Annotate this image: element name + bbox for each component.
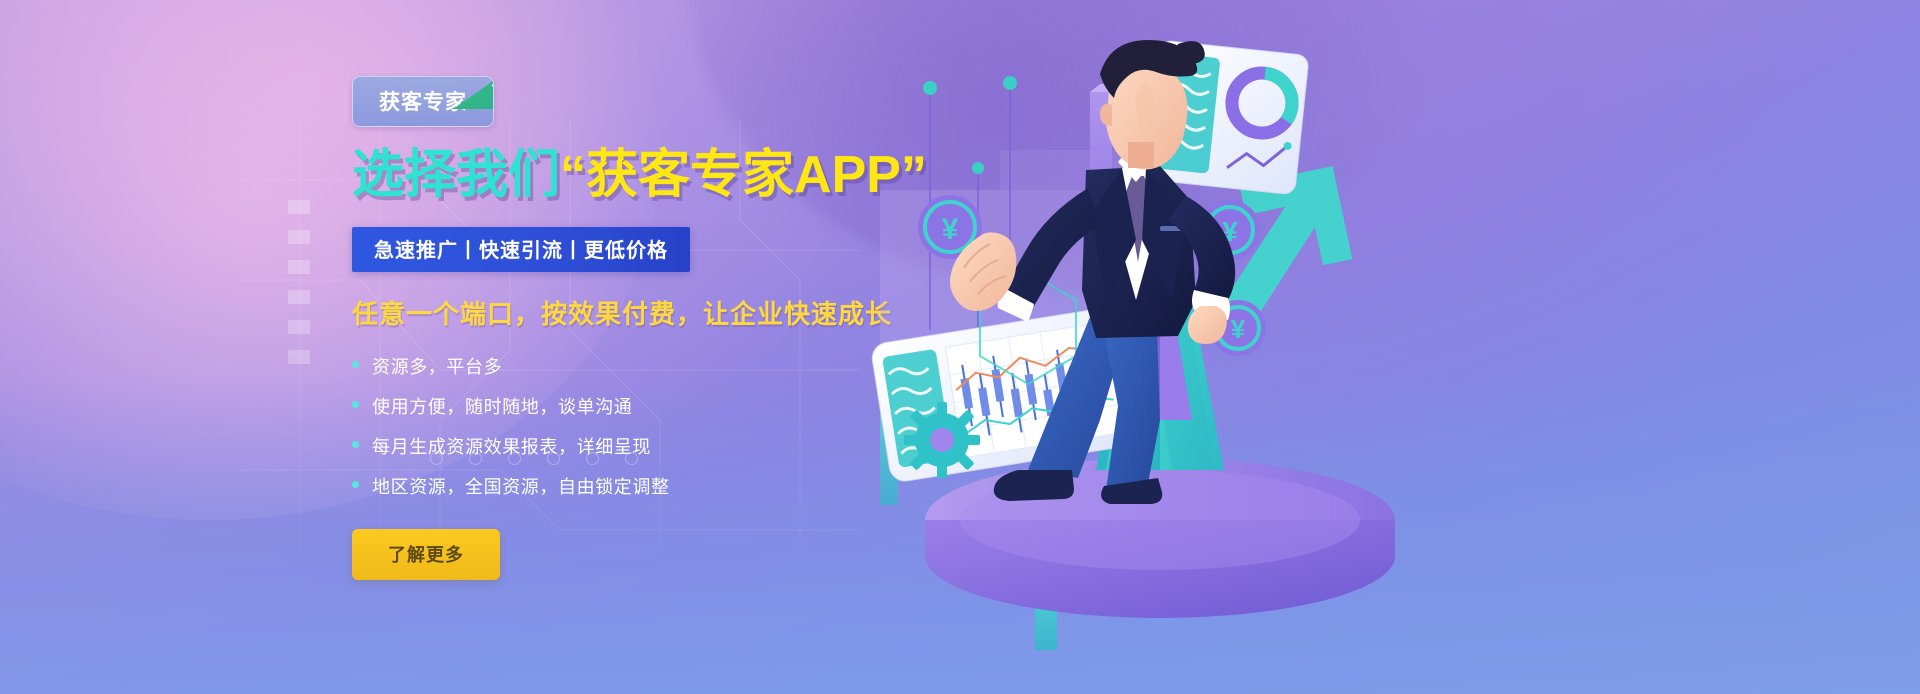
list-item: 每月生成资源效果报表，详细呈现 <box>352 433 912 459</box>
podium <box>925 458 1395 618</box>
promo-banner: 获客专家 NEW 选择我们“获客专家APP” 急速推广丨快速引流丨更低价格 任意… <box>0 0 1920 694</box>
svg-text:¥: ¥ <box>942 213 959 246</box>
benefit-list: 资源多，平台多 使用方便，随时随地，谈单沟通 每月生成资源效果报表，详细呈现 地… <box>352 353 912 499</box>
feature-bar: 急速推广丨快速引流丨更低价格 <box>352 227 690 272</box>
subheadline: 任意一个端口，按效果付费，让企业快速成长 <box>352 294 912 331</box>
hero-illustration: ¥ ¥ ¥ <box>860 0 1420 694</box>
node-dot <box>923 81 937 95</box>
list-item: 资源多，平台多 <box>352 353 912 379</box>
page-title: 选择我们“获客专家APP” <box>352 148 912 203</box>
shoe <box>994 470 1074 501</box>
product-badge-label: 获客专家 <box>379 91 467 114</box>
new-ribbon-label: NEW <box>491 76 494 90</box>
gear-icon <box>904 402 980 478</box>
node-dot <box>1003 76 1017 90</box>
headline-cyan-part: 选择我们 <box>352 146 560 204</box>
node-dot <box>972 162 984 174</box>
bg-square-column <box>288 200 310 380</box>
learn-more-button[interactable]: 了解更多 <box>352 529 500 580</box>
list-item: 使用方便，随时随地，谈单沟通 <box>352 393 912 419</box>
list-item: 地区资源，全国资源，自由锁定调整 <box>352 473 912 499</box>
product-badge[interactable]: 获客专家 NEW <box>352 76 494 127</box>
banner-copy: 获客专家 NEW 选择我们“获客专家APP” 急速推广丨快速引流丨更低价格 任意… <box>352 76 912 580</box>
svg-text:¥: ¥ <box>1231 314 1246 344</box>
